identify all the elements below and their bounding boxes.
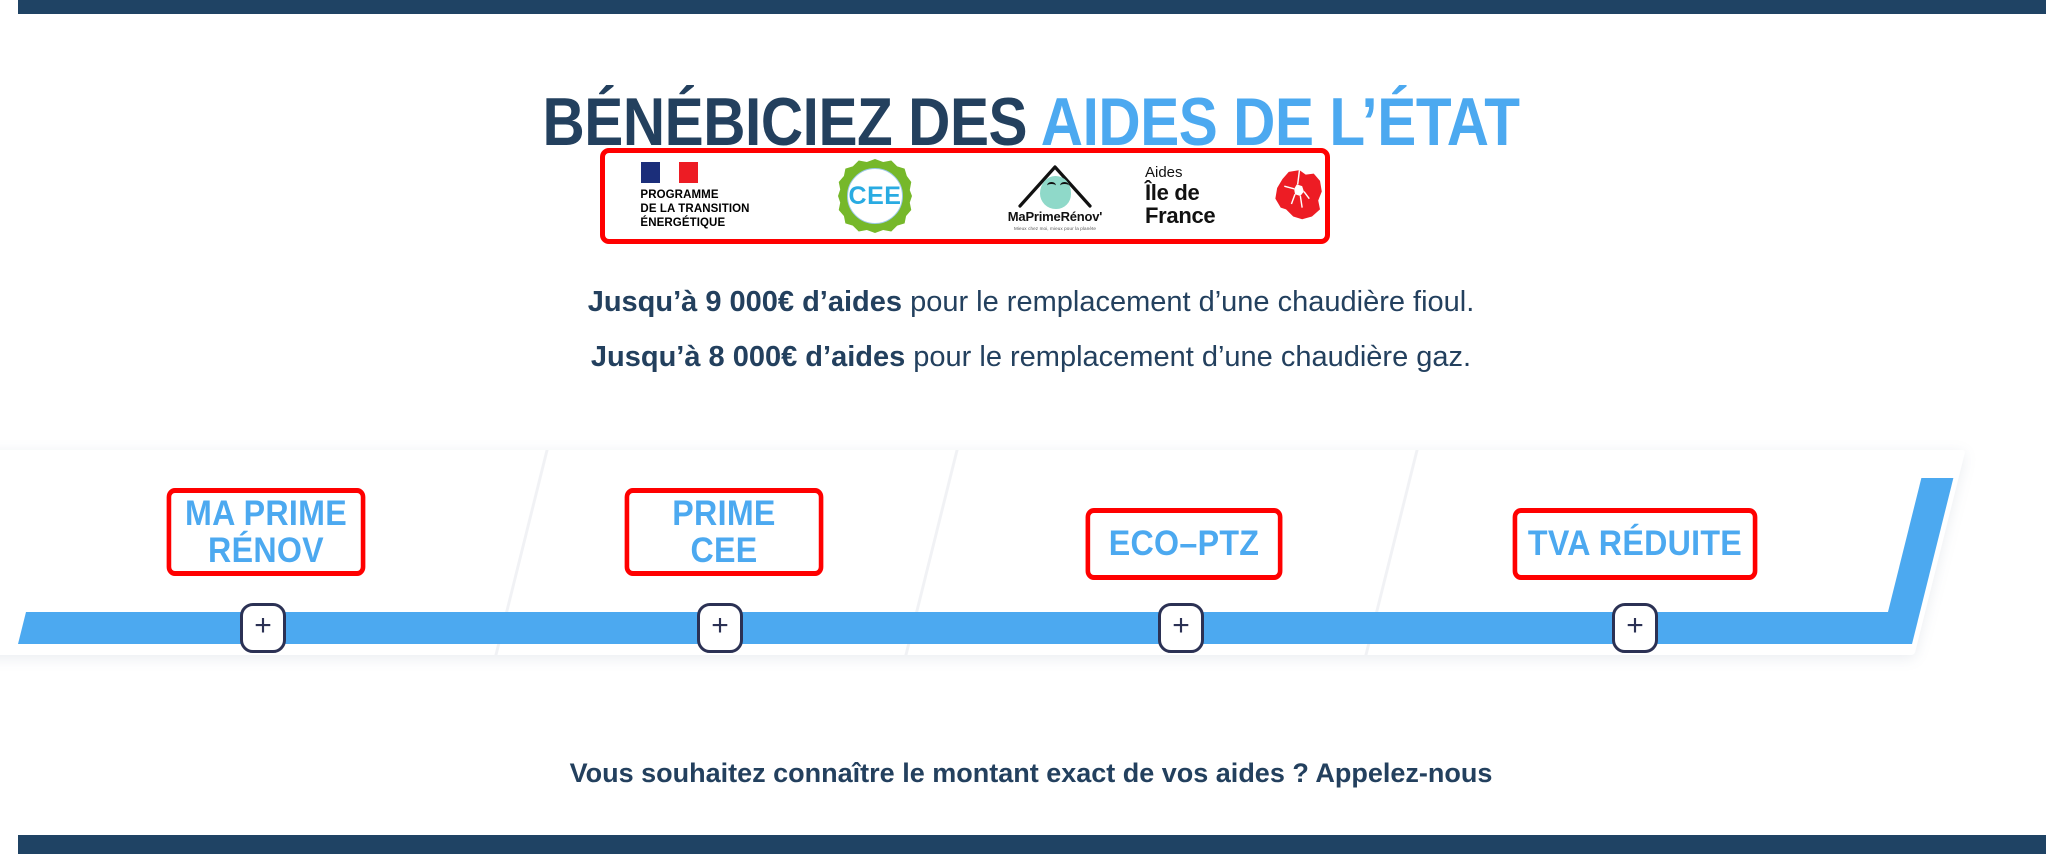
idf-label-aides: Aides: [1145, 165, 1183, 181]
bottom-accent-bar: [18, 835, 2046, 854]
expand-button-prime-cee[interactable]: +: [697, 603, 743, 653]
ile-de-france-map-icon: [1270, 165, 1325, 227]
page-title: BÉNÉBICIEZ DES AIDES DE L’ÉTAT: [144, 88, 1917, 156]
aid-amount-1-bold: Jusqu’à 9 000€ d’aides: [588, 286, 902, 318]
french-flag-icon: [641, 162, 698, 183]
logo-programme-label: PROGRAMME DE LA TRANSITION ÉNERGÉTIQUE: [640, 188, 749, 230]
idf-label-region: Île de France: [1145, 181, 1262, 227]
aid-amount-2-bold: Jusqu’à 8 000€ d’aides: [591, 341, 905, 373]
aid-amount-line-2: Jusqu’à 8 000€ d’aides pour le remplacem…: [0, 341, 2062, 374]
logo-maprimerenov: MaPrimeRénov' Mieux chez moi, mieux pour…: [965, 153, 1145, 239]
aid-amount-1-rest: pour le remplacement d’une chaudière fio…: [902, 286, 1474, 318]
partner-logos-strip: PROGRAMME DE LA TRANSITION ÉNERGÉTIQUE C…: [600, 148, 1330, 244]
cee-label: CEE: [849, 182, 902, 211]
contact-cta-text: Vous souhaitez connaître le montant exac…: [0, 758, 2062, 789]
aid-card-ma-prime-renov[interactable]: MA PRIME RÉNOV: [167, 488, 366, 576]
aid-amount-line-1: Jusqu’à 9 000€ d’aides pour le remplacem…: [0, 286, 2062, 319]
aid-card-tva-reduite[interactable]: TVA RÉDUITE: [1513, 508, 1758, 580]
cee-badge-icon: CEE: [838, 159, 912, 233]
aid-types-ribbon: MA PRIME RÉNOV PRIME CEE ECO–PTZ TVA RÉD…: [0, 440, 2062, 670]
logo-cee: CEE: [785, 153, 965, 239]
maprimerenov-tagline: Mieux chez moi, mieux pour la planète: [1014, 226, 1096, 231]
expand-button-ma-prime-renov[interactable]: +: [240, 603, 286, 653]
maprimerenov-house-icon: [1016, 162, 1094, 208]
logo-aides-ile-de-france: Aides Île de France: [1145, 153, 1325, 239]
aid-card-prime-cee[interactable]: PRIME CEE: [625, 488, 824, 576]
aid-amount-2-rest: pour le remplacement d’une chaudière gaz…: [905, 341, 1471, 373]
maprimerenov-title: MaPrimeRénov': [1008, 209, 1102, 224]
logo-programme-transition-energetique: PROGRAMME DE LA TRANSITION ÉNERGÉTIQUE: [605, 153, 785, 239]
expand-button-tva-reduite[interactable]: +: [1612, 603, 1658, 653]
expand-button-eco-ptz[interactable]: +: [1158, 603, 1204, 653]
top-accent-bar: [18, 0, 2046, 14]
aid-card-eco-ptz[interactable]: ECO–PTZ: [1086, 508, 1283, 580]
